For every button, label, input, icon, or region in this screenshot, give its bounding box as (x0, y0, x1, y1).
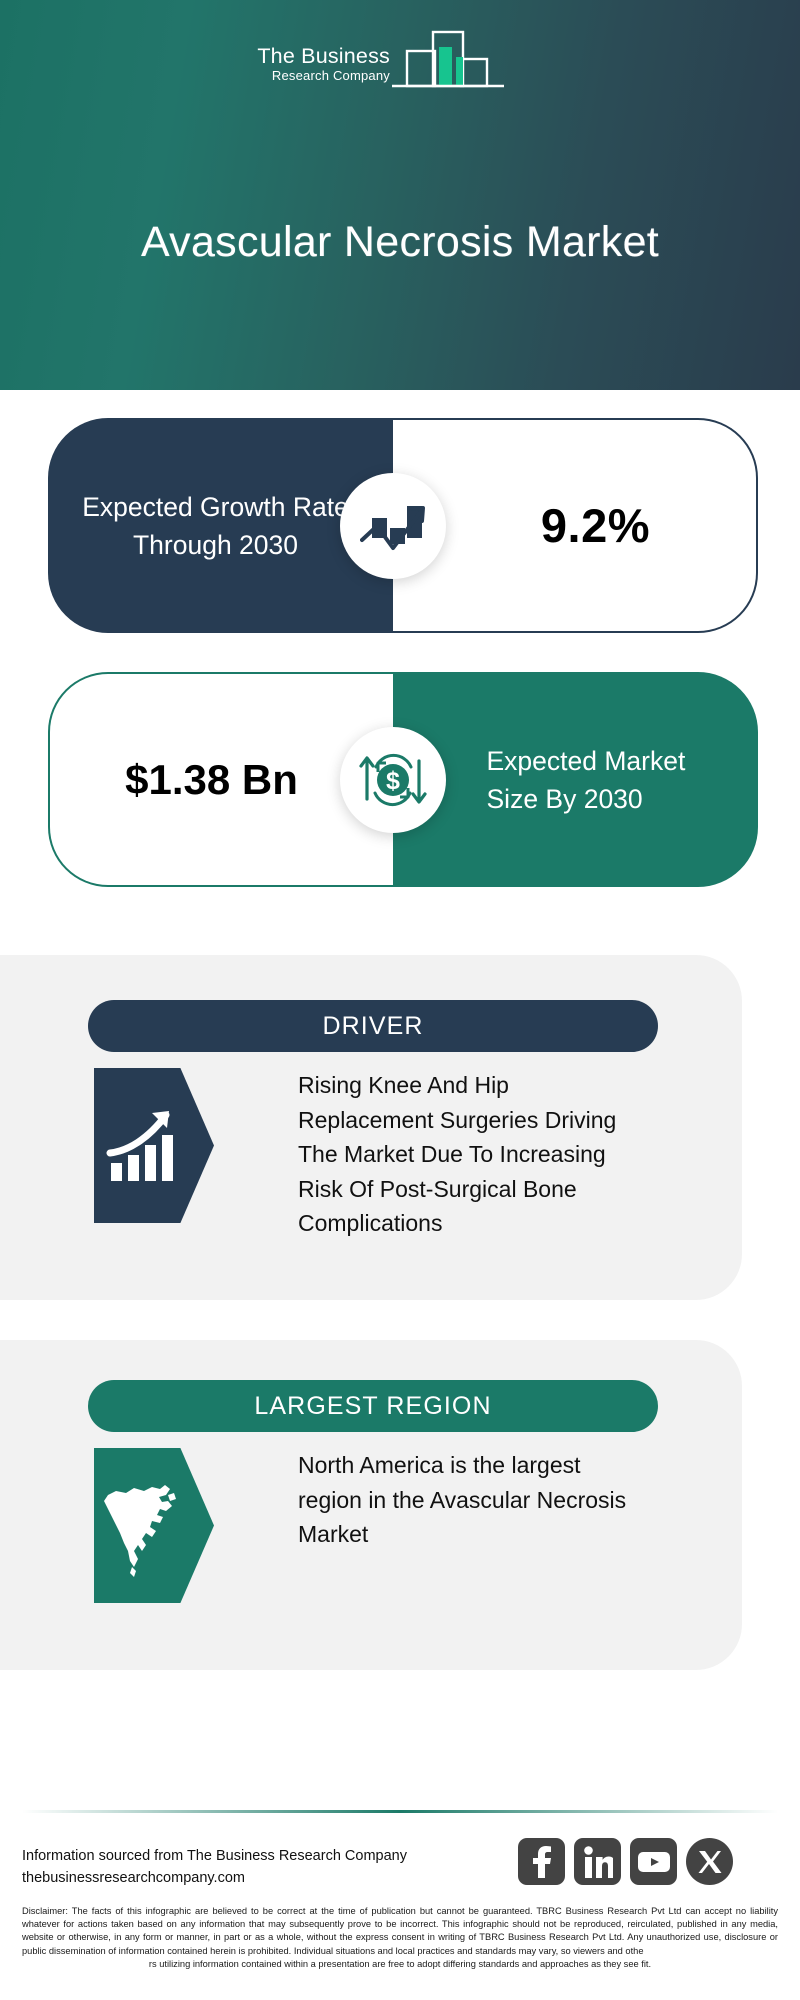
footer-divider (22, 1810, 778, 1813)
social-links (518, 1838, 733, 1885)
stat-card-label: Expected Market Size By 2030 (451, 742, 701, 818)
page-title: Avascular Necrosis Market (0, 218, 800, 267)
driver-pill-label: DRIVER (88, 1000, 658, 1052)
infographic-page: The Business Research Company Avascular … (0, 0, 800, 2000)
svg-text:$: $ (386, 767, 400, 795)
source-attribution: Information sourced from The Business Re… (22, 1845, 407, 1889)
linkedin-icon[interactable] (574, 1838, 621, 1885)
stat-card-label-panel: Expected Market Size By 2030 (393, 672, 758, 887)
logo-line-1: The Business (222, 44, 390, 68)
growth-chart-arrow-icon (340, 473, 446, 579)
stat-card-growth-rate: Expected Growth Rate Through 2030 9.2% (48, 418, 758, 633)
logo-wordmark: The Business Research Company (222, 44, 390, 84)
stat-card-market-size: $1.38 Bn Expected Market Size By 2030 $ (48, 672, 758, 887)
largest-region-text: North America is the largest region in t… (298, 1448, 628, 1552)
source-line-2[interactable]: thebusinessresearchcompany.com (22, 1867, 407, 1889)
source-line-1: Information sourced from The Business Re… (22, 1845, 407, 1867)
x-twitter-icon[interactable] (686, 1838, 733, 1885)
dollar-circular-arrows-icon: $ (340, 727, 446, 833)
stat-card-value-panel: 9.2% (393, 418, 758, 633)
disclaimer-paragraph-2: rs utilizing information contained withi… (22, 1958, 778, 1971)
stat-card-value: $1.38 Bn (107, 754, 337, 806)
bar-chart-logo-icon (392, 30, 504, 103)
header-banner: The Business Research Company Avascular … (0, 0, 800, 390)
disclaimer-paragraph-1: Disclaimer: The facts of this infographi… (22, 1905, 778, 1958)
disclaimer-text: Disclaimer: The facts of this infographi… (22, 1905, 778, 1971)
largest-region-pill-label: LARGEST REGION (88, 1380, 658, 1432)
stat-card-label: Expected Growth Rate Through 2030 (81, 488, 361, 564)
stat-card-value: 9.2% (499, 498, 650, 553)
company-logo: The Business Research Company (222, 22, 512, 100)
driver-text: Rising Knee And Hip Replacement Surgerie… (298, 1068, 643, 1241)
facebook-icon[interactable] (518, 1838, 565, 1885)
youtube-icon[interactable] (630, 1838, 677, 1885)
logo-line-2: Research Company (222, 68, 390, 84)
